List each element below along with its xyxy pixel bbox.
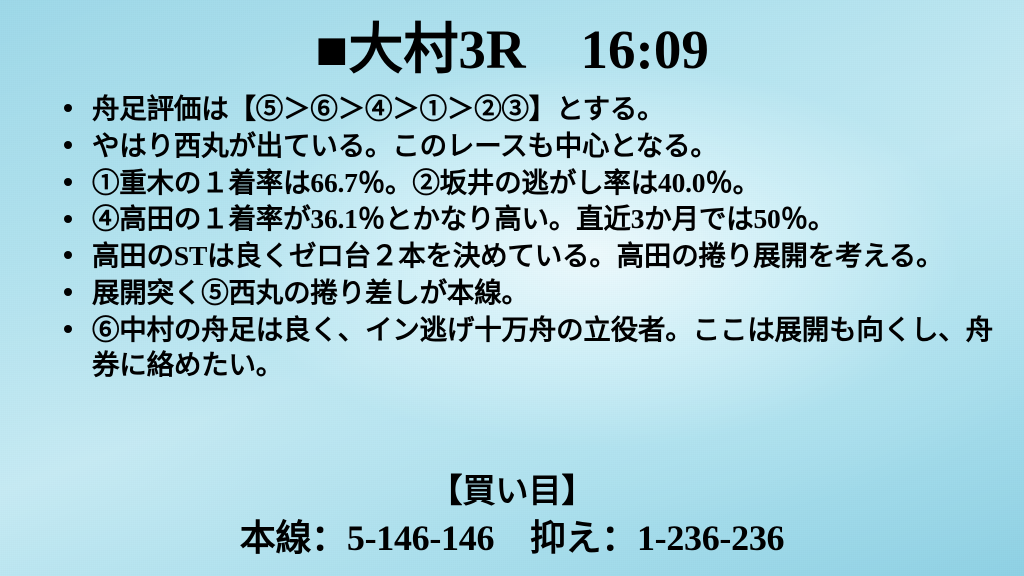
commentary-bullet-list: 舟足評価は【⑤＞⑥＞④＞①＞②③】とする。 やはり西丸が出ている。このレースも中…: [0, 77, 1024, 383]
list-item-text: 舟足評価は【⑤＞⑥＞④＞①＞②③】とする。: [92, 93, 664, 124]
list-item-text: ④高田の１着率が36.1％とかなり高い。直近3か月では50％。: [92, 203, 835, 234]
list-item-text: 展開突く⑤西丸の捲り差しが本線。: [92, 277, 529, 308]
list-item: 舟足評価は【⑤＞⑥＞④＞①＞②③】とする。: [58, 91, 998, 127]
bullet-dot-icon: [64, 178, 72, 186]
bullet-dot-icon: [64, 251, 72, 259]
list-item: 高田のSTは良くゼロ台２本を決めている。高田の捲り展開を考える。: [58, 238, 998, 274]
list-item-text: やはり西丸が出ている。このレースも中心となる。: [92, 130, 718, 161]
list-item: やはり西丸が出ている。このレースも中心となる。: [58, 128, 998, 164]
page-title: ■大村3R 16:09: [0, 0, 1024, 77]
list-item-text: 高田のSTは良くゼロ台２本を決めている。高田の捲り展開を考える。: [92, 240, 943, 271]
bullet-dot-icon: [64, 104, 72, 112]
buy-recommendation-section: 【買い目】 本線：5-146-146 抑え：1-236-236: [0, 473, 1024, 560]
bullet-dot-icon: [64, 215, 72, 223]
list-item: ⑥中村の舟足は良く、イン逃げ十万舟の立役者。ここは展開も向くし、舟券に絡めたい。: [58, 312, 998, 384]
bullet-dot-icon: [64, 325, 72, 333]
race-prediction-slide: ■大村3R 16:09 舟足評価は【⑤＞⑥＞④＞①＞②③】とする。 やはり西丸が…: [0, 0, 1024, 576]
buy-heading: 【買い目】: [0, 473, 1024, 513]
list-item-text: ①重木の１着率は66.7％。②坂井の逃がし率は40.0％。: [92, 167, 760, 198]
list-item: ①重木の１着率は66.7％。②坂井の逃がし率は40.0％。: [58, 165, 998, 201]
bullet-dot-icon: [64, 288, 72, 296]
list-item: ④高田の１着率が36.1％とかなり高い。直近3か月では50％。: [58, 201, 998, 237]
buy-ticket-lines: 本線：5-146-146 抑え：1-236-236: [0, 517, 1024, 560]
bullet-dot-icon: [64, 141, 72, 149]
list-item-text: ⑥中村の舟足は良く、イン逃げ十万舟の立役者。ここは展開も向くし、舟券に絡めたい。: [92, 314, 993, 381]
list-item: 展開突く⑤西丸の捲り差しが本線。: [58, 275, 998, 311]
slide-content: ■大村3R 16:09 舟足評価は【⑤＞⑥＞④＞①＞②③】とする。 やはり西丸が…: [0, 0, 1024, 576]
